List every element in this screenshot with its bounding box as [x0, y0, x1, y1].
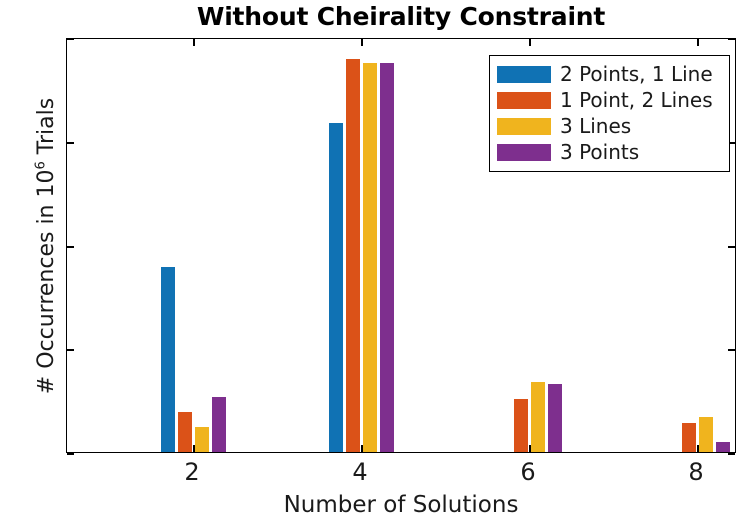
y-axis-label-prefix: # Occurrences in 10 — [34, 170, 59, 395]
bar — [716, 442, 730, 452]
legend-label: 1 Point, 2 Lines — [560, 88, 713, 112]
legend-label: 3 Points — [560, 140, 639, 164]
bar — [195, 427, 209, 452]
y-axis-label: # Occurrences in 106 Trials — [34, 38, 59, 454]
bar — [699, 417, 713, 452]
y-axis-label-suffix: Trials — [34, 98, 59, 161]
legend-swatch — [497, 92, 551, 109]
bar — [212, 397, 226, 452]
bar — [161, 267, 175, 452]
legend-item[interactable]: 2 Points, 1 Line — [497, 61, 722, 87]
x-tick-label: 6 — [498, 458, 558, 486]
x-tick-label: 4 — [330, 458, 390, 486]
legend-label: 2 Points, 1 Line — [560, 62, 713, 86]
y-axis-label-exponent: 6 — [34, 161, 49, 169]
legend-item[interactable]: 3 Points — [497, 139, 722, 165]
x-tick-label: 8 — [666, 458, 726, 486]
y-axis-tick — [67, 453, 74, 455]
bar — [329, 123, 343, 452]
bar — [682, 423, 696, 452]
x-tick-label: 2 — [162, 458, 222, 486]
bar — [548, 384, 562, 452]
legend-item[interactable]: 3 Lines — [497, 113, 722, 139]
bar — [531, 382, 545, 452]
chart-legend: 2 Points, 1 Line1 Point, 2 Lines3 Lines3… — [489, 55, 730, 172]
legend-label: 3 Lines — [560, 114, 631, 138]
bar — [380, 63, 394, 452]
bar — [363, 63, 377, 452]
legend-item[interactable]: 1 Point, 2 Lines — [497, 87, 722, 113]
y-axis-tick — [728, 453, 735, 455]
legend-swatch — [497, 118, 551, 135]
chart-title: Without Cheirality Constraint — [66, 2, 736, 31]
x-axis-label: Number of Solutions — [66, 492, 736, 518]
bar — [346, 59, 360, 452]
bar — [178, 412, 192, 452]
legend-swatch — [497, 144, 551, 161]
y-axis-label-container: # Occurrences in 106 Trials — [0, 38, 40, 454]
legend-swatch — [497, 66, 551, 83]
figure-canvas: Without Cheirality Constraint # Occurren… — [0, 0, 744, 528]
bar — [514, 399, 528, 452]
